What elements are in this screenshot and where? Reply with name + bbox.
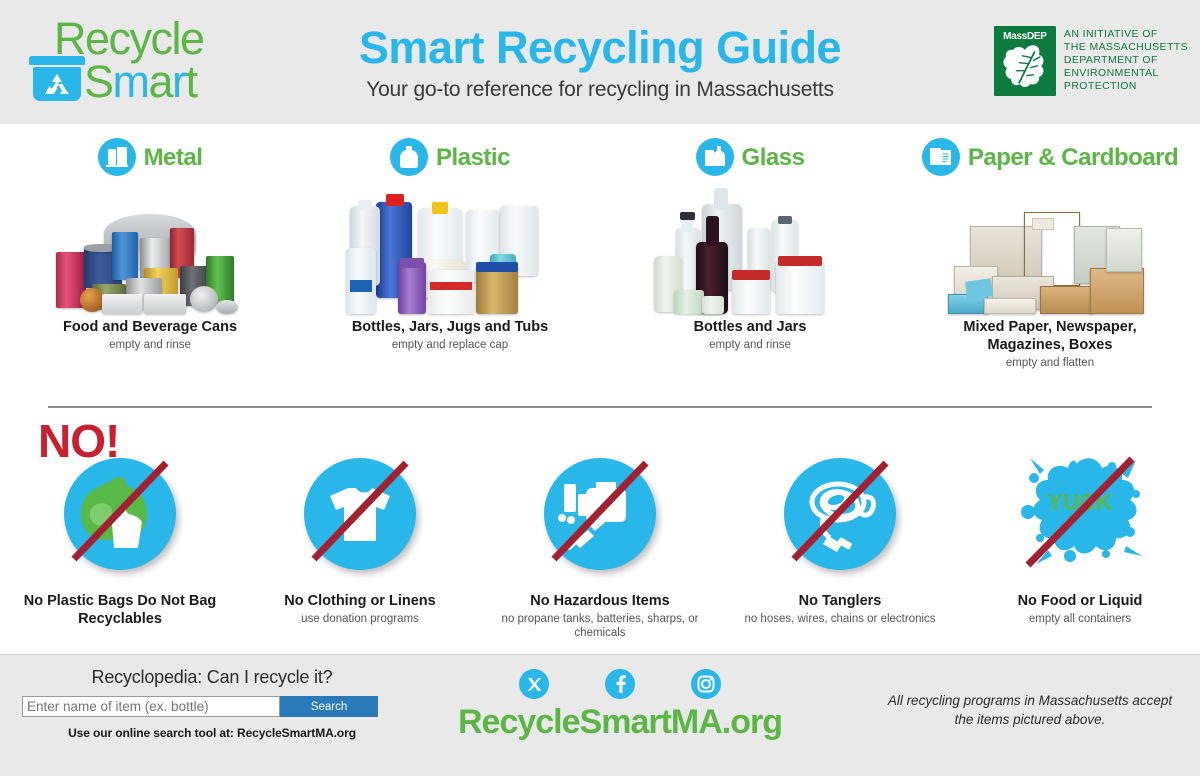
category-caption-paper: Mixed Paper, Newspaper, Magazines, Boxes xyxy=(943,318,1158,354)
oak-leaf-icon xyxy=(1002,43,1048,91)
plastic-containers-photo xyxy=(340,182,560,314)
massdep-line-3: DEPARTMENT OF xyxy=(1064,54,1188,67)
search-button[interactable]: Search xyxy=(280,696,378,717)
category-sub-metal: empty and rinse xyxy=(109,339,191,351)
no-item-food-liquid: YUCK No Food or Liquid empty all contain… xyxy=(960,456,1200,666)
no-label-tanglers: No Tanglers xyxy=(799,592,882,610)
massdep-line-2: THE MASSACHUSETTS xyxy=(1064,41,1188,54)
no-item-tanglers: No Tanglers no hoses, wires, chains or e… xyxy=(720,456,960,666)
paper-stack-icon xyxy=(922,138,960,176)
category-sub-paper: empty and flatten xyxy=(1006,357,1094,369)
plastic-bottle-icon xyxy=(390,138,428,176)
facebook-icon[interactable] xyxy=(605,669,635,699)
massdep-badge-label: MassDEP xyxy=(994,31,1056,42)
no-item-plastic-bags: No Plastic Bags Do Not Bag Recyclables xyxy=(0,456,240,666)
massdep-line-1: AN INITIATIVE OF xyxy=(1064,28,1188,41)
massdep-badge: MassDEP xyxy=(994,26,1056,96)
category-caption-plastic: Bottles, Jars, Jugs and Tubs xyxy=(352,318,548,336)
no-sub-hazardous: no propane tanks, batteries, sharps, or … xyxy=(500,612,700,640)
category-label-glass: Glass xyxy=(742,146,805,169)
no-sub-tanglers: no hoses, wires, chains or electronics xyxy=(744,612,935,626)
accepted-categories: Metal Food and Beverage Cans empty and r… xyxy=(0,124,1200,402)
tshirt-icon xyxy=(304,458,416,570)
category-label-paper: Paper & Cardboard xyxy=(968,146,1178,169)
hose-tangler-icon xyxy=(784,458,896,570)
x-twitter-icon[interactable] xyxy=(519,669,549,699)
no-item-hazardous: No Hazardous Items no propane tanks, bat… xyxy=(480,456,720,666)
social-block: RecycleSmartMA.org xyxy=(420,669,820,742)
online-tool-note: Use our online search tool at: RecycleSm… xyxy=(22,726,402,740)
category-sub-plastic: empty and replace cap xyxy=(392,339,508,351)
recyclopedia-title: Recyclopedia: Can I recycle it? xyxy=(22,667,402,688)
category-caption-glass: Bottles and Jars xyxy=(694,318,807,336)
search-input[interactable] xyxy=(22,696,280,717)
no-sub-food-liquid: empty all containers xyxy=(1029,612,1131,626)
category-metal: Metal Food and Beverage Cans empty and r… xyxy=(0,134,300,402)
footer-disclaimer: All recycling programs in Massachusetts … xyxy=(880,691,1180,729)
category-label-metal: Metal xyxy=(144,146,203,169)
massdep-line-5: PROTECTION xyxy=(1064,80,1188,93)
category-label-plastic: Plastic xyxy=(436,146,510,169)
category-caption-metal: Food and Beverage Cans xyxy=(63,318,237,336)
category-sub-glass: empty and rinse xyxy=(709,339,791,351)
category-paper: Paper & Cardboard Mixed Paper, Newspaper… xyxy=(900,134,1200,402)
not-accepted-section: NO! No Plastic Bags Do Not Bag Recyclabl… xyxy=(0,408,1200,666)
recyclopedia-block: Recyclopedia: Can I recycle it? Search U… xyxy=(22,667,402,740)
website-url[interactable]: RecycleSmartMA.org xyxy=(420,703,820,742)
metal-can-icon xyxy=(98,138,136,176)
paper-cardboard-photo xyxy=(940,182,1160,314)
no-sub-clothing: use donation programs xyxy=(301,612,419,626)
no-item-clothing: No Clothing or Linens use donation progr… xyxy=(240,456,480,666)
massdep-line-4: ENVIRONMENTAL xyxy=(1064,67,1188,80)
no-label-plastic-bags: No Plastic Bags Do Not Bag Recyclables xyxy=(10,592,230,628)
massdep-logo: MassDEP AN INITIATIVE OF THE MASSACHUSET… xyxy=(994,26,1188,96)
glass-bottle-icon xyxy=(696,138,734,176)
category-glass: Glass Bottles and Jars empty and rinse xyxy=(600,134,900,402)
yuck-splat-icon: YUCK xyxy=(1014,450,1148,578)
yuck-text: YUCK xyxy=(1047,489,1113,515)
hazardous-items-icon xyxy=(544,458,656,570)
page-header: Recycle Smart Smart Recycling Guide Your… xyxy=(0,0,1200,124)
glass-bottles-photo xyxy=(640,182,860,314)
no-label-hazardous: No Hazardous Items xyxy=(530,592,669,610)
category-plastic: Plastic Bottles, Jars, Jugs and Tubs emp… xyxy=(300,134,600,402)
page-footer: Recyclopedia: Can I recycle it? Search U… xyxy=(0,654,1200,776)
no-label-food-liquid: No Food or Liquid xyxy=(1018,592,1143,610)
metal-cans-photo xyxy=(40,182,260,314)
instagram-icon[interactable] xyxy=(691,669,721,699)
no-label-clothing: No Clothing or Linens xyxy=(284,592,435,610)
massdep-text: AN INITIATIVE OF THE MASSACHUSETTS DEPAR… xyxy=(1064,26,1188,93)
plastic-bag-icon xyxy=(64,458,176,570)
